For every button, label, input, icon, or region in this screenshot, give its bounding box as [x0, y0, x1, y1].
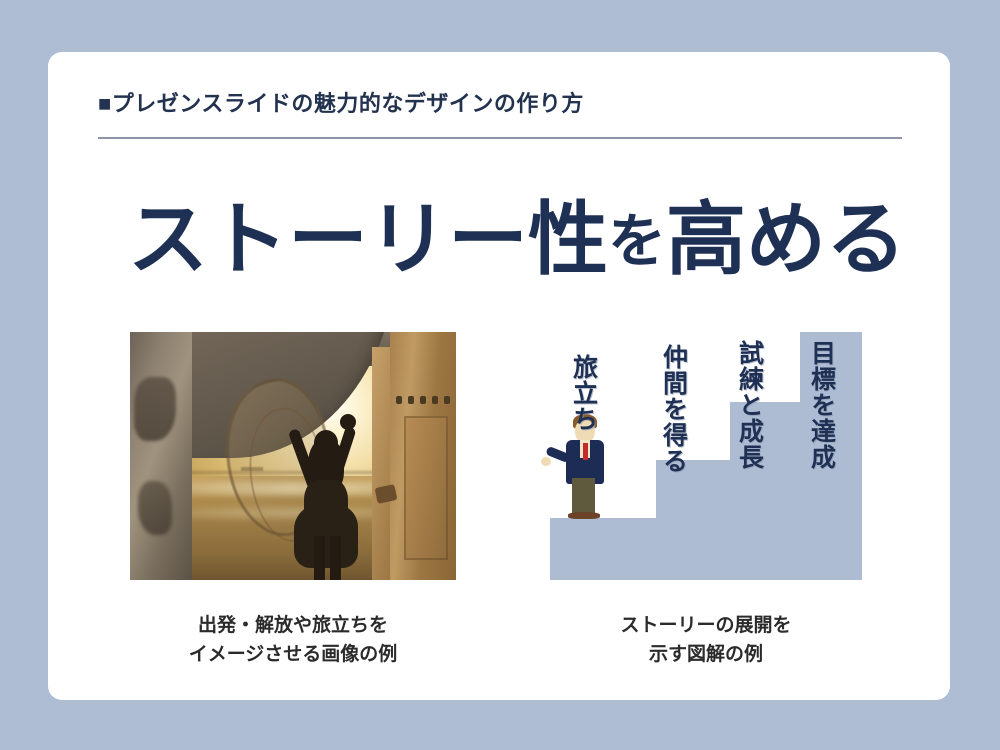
photo-woman-leg-right — [330, 536, 341, 580]
staircase-label-4: 目標を達成 — [808, 340, 835, 470]
photo-woman-leg-left — [314, 536, 325, 580]
slide-canvas: ■プレゼンスライドの魅力的なデザインの作り方 ストーリー性を高める — [0, 0, 1000, 750]
figure-hand — [541, 457, 551, 466]
staircase-label-1: 旅立ち — [570, 354, 597, 432]
staircase-label-3: 試練と成長 — [736, 340, 763, 470]
header-title-text: プレゼンスライドの魅力的なデザインの作り方 — [112, 91, 584, 116]
photo-caption: 出発・解放や旅立ちを イメージさせる画像の例 — [130, 612, 456, 669]
figure-shoes — [568, 512, 600, 519]
photo-caption-line1: 出発・解放や旅立ちを — [130, 612, 456, 641]
photo-wooden-door — [390, 332, 456, 580]
diagram-caption-line2: 示す図解の例 — [550, 641, 862, 670]
figure-pants — [572, 478, 595, 514]
slide-card: ■プレゼンスライドの魅力的なデザインの作り方 ストーリー性を高める — [48, 52, 950, 700]
diagram-caption-line1: ストーリーの展開を — [550, 612, 862, 641]
diagram-caption: ストーリーの展開を 示す図解の例 — [550, 612, 862, 669]
figure-tie — [583, 443, 588, 460]
header-title: ■プレゼンスライドの魅力的なデザインの作り方 — [98, 92, 908, 116]
photo-door-jamb — [372, 347, 390, 580]
photo-woman-silhouette — [280, 384, 372, 580]
photo-stone-pillar — [130, 332, 192, 580]
photo-woman-fist — [340, 414, 356, 430]
photo-block — [130, 332, 456, 580]
page-title-part2: 高める — [666, 195, 906, 284]
header-divider — [98, 137, 902, 139]
example-photo — [130, 332, 456, 580]
page-title: ストーリー性を高める — [128, 200, 918, 280]
photo-door-studs — [394, 396, 452, 404]
staircase-label-2: 仲間を得る — [660, 344, 687, 474]
staircase-step-1 — [550, 518, 862, 580]
page-title-part1: ストーリー性 — [128, 195, 608, 284]
page-title-particle: を — [608, 209, 666, 274]
photo-woman-skirt — [294, 504, 358, 568]
header-bullet-icon: ■ — [98, 91, 112, 116]
photo-caption-line2: イメージさせる画像の例 — [130, 641, 456, 670]
story-staircase-diagram: 旅立ち 仲間を得る 試練と成長 目標を達成 — [550, 332, 862, 580]
slide-header: ■プレゼンスライドの魅力的なデザインの作り方 — [98, 92, 908, 116]
